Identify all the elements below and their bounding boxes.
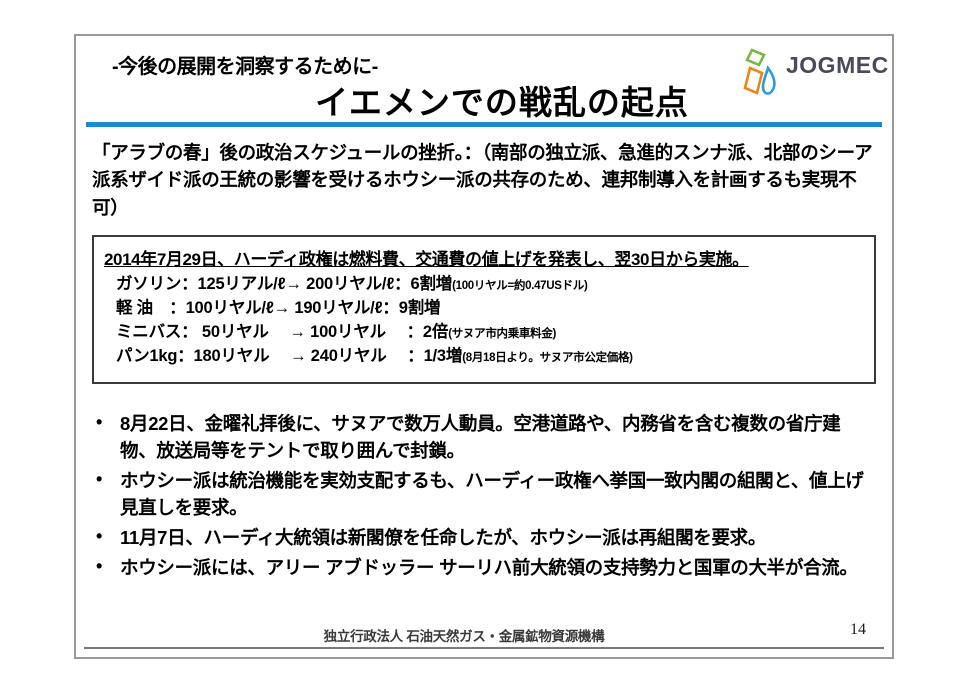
- slide-frame: -今後の展開を洞察するために- イエメンでの戦乱の起点 JOGMEC 「アラブの…: [74, 34, 894, 659]
- price-row-text: パン1kg：180リヤル → 240リヤル ：1/3増: [116, 347, 462, 365]
- price-row: ミニバス： 50リヤル → 100リヤル ：2倍(サヌア市内乗車料金): [116, 322, 864, 344]
- price-row-text: ガソリン：125リアル/ℓ→ 200リヤル/ℓ：6割増: [116, 275, 452, 293]
- intro-paragraph: 「アラブの春」後の政治スケジュールの挫折。：（南部の独立派、急進的スンナ派、北部…: [92, 139, 876, 221]
- bullet-marker-icon: •: [96, 467, 102, 492]
- price-row: パン1kg：180リヤル → 240リヤル ：1/3増(8月18日より。サヌア市…: [116, 346, 864, 368]
- jogmec-logo: JOGMEC: [734, 40, 884, 102]
- price-box-heading: 2014年7月29日、ハーディ政権は燃料費、交通費の値上げを発表し、翌30日から…: [104, 245, 864, 270]
- bullet-marker-icon: •: [96, 554, 102, 579]
- bullet-list: • 8月22日、金曜礼拝後に、サヌアで数万人動員。空港道路や、内務省を含む複数の…: [92, 410, 876, 581]
- price-row: ガソリン：125リアル/ℓ→ 200リヤル/ℓ：6割増(100リヤル=約0.47…: [116, 274, 864, 296]
- list-item-text: ホウシー派は統治機能を実効支配するも、ハーディー政権へ挙国一致内閣の組閣と、値上…: [120, 470, 864, 518]
- slide-header: -今後の展開を洞察するために- イエメンでの戦乱の起点 JOGMEC: [76, 36, 892, 122]
- jogmec-logo-mark-icon: [738, 46, 784, 100]
- slide-footer: 独立行政法人 石油天然ガス・金属鉱物資源機構 14: [76, 619, 892, 657]
- list-item-text: 8月22日、金曜礼拝後に、サヌアで数万人動員。空港道路や、内務省を含む複数の省庁…: [120, 413, 840, 461]
- page-number: 14: [850, 621, 866, 639]
- list-item: • 11月7日、ハーディ大統領は新閣僚を任命したが、ホウシー派は再組閣を要求。: [92, 524, 876, 551]
- jogmec-logo-text: JOGMEC: [786, 52, 889, 79]
- price-row: 軽 油 ：100リヤル/ℓ→ 190リヤル/ℓ：9割増: [116, 298, 864, 320]
- footer-divider: [84, 647, 884, 649]
- price-row-note: (100リヤル=約0.47USドル): [452, 280, 588, 292]
- list-item: • ホウシー派は統治機能を実効支配するも、ハーディー政権へ挙国一致内閣の組閣と、…: [92, 467, 876, 521]
- list-item-text: 11月7日、ハーディ大統領は新閣僚を任命したが、ホウシー派は再組閣を要求。: [120, 527, 766, 548]
- list-item: • 8月22日、金曜礼拝後に、サヌアで数万人動員。空港道路や、内務省を含む複数の…: [92, 410, 876, 464]
- price-increase-box: 2014年7月29日、ハーディ政権は燃料費、交通費の値上げを発表し、翌30日から…: [92, 235, 876, 384]
- list-item: • ホウシー派には、アリー アブドッラー サーリハ前大統領の支持勢力と国軍の大半…: [92, 554, 876, 581]
- price-row-note: (サヌア市内乗車料金): [448, 328, 556, 340]
- slide-kicker: -今後の展開を洞察するために-: [112, 50, 378, 79]
- footer-organization: 独立行政法人 石油天然ガス・金属鉱物資源機構: [76, 625, 892, 645]
- price-row-text: ミニバス： 50リヤル → 100リヤル ：2倍: [116, 323, 448, 341]
- bullet-marker-icon: •: [96, 524, 102, 549]
- list-item-text: ホウシー派には、アリー アブドッラー サーリハ前大統領の支持勢力と国軍の大半が合…: [120, 557, 858, 578]
- price-row-note: (8月18日より。サヌア市公定価格): [462, 352, 633, 364]
- bullet-marker-icon: •: [96, 410, 102, 435]
- price-row-text: 軽 油 ：100リヤル/ℓ→ 190リヤル/ℓ：9割増: [116, 299, 440, 317]
